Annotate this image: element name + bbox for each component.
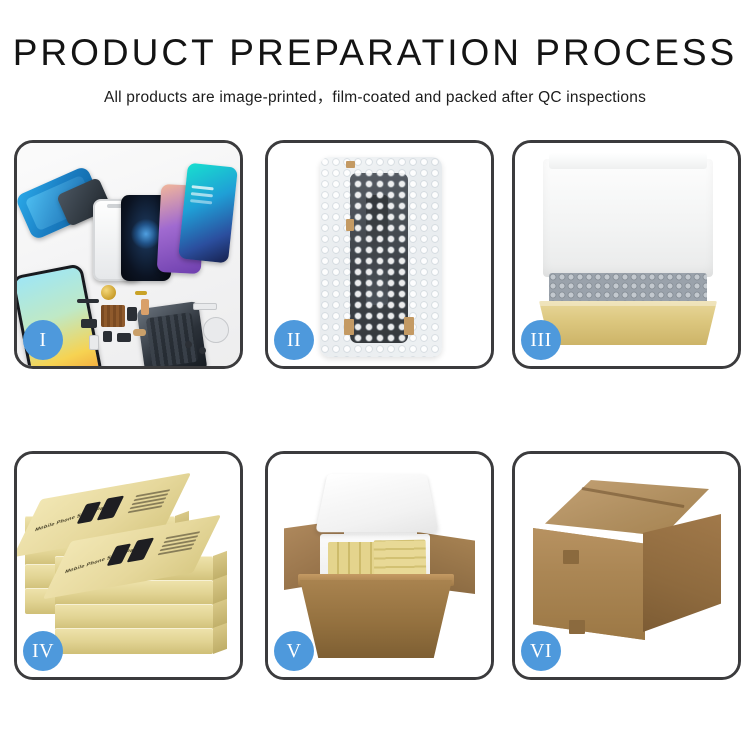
camera-module-part (81, 319, 97, 328)
process-step-grid: I II III (14, 140, 736, 740)
bubble-texture (320, 157, 442, 357)
label-spec-lines (136, 489, 171, 497)
foam-case-open-lid (315, 474, 438, 532)
gold-contact-part (135, 291, 147, 295)
carton-side-face (643, 514, 721, 632)
screwdriver-tool (193, 303, 217, 310)
step-badge-5: V (274, 631, 314, 671)
tape-piece (404, 317, 414, 335)
tape-piece (346, 219, 354, 231)
white-foam-lid (543, 159, 713, 277)
vibrator-part (117, 333, 131, 342)
step-card-2[interactable]: II (265, 140, 494, 369)
step-badge-6: VI (521, 631, 561, 671)
carton-body (300, 580, 452, 658)
page-title: PRODUCT PREPARATION PROCESS (0, 34, 750, 73)
circuit-board-part (101, 305, 125, 327)
retail-box (55, 604, 213, 630)
speaker-coil-part (101, 285, 116, 300)
label-spec-lines (166, 531, 201, 539)
retail-box (55, 628, 213, 654)
step-badge-3: III (521, 320, 561, 360)
carton-flap-tab (563, 550, 579, 564)
step-badge-2: II (274, 320, 314, 360)
poster-header: PRODUCT PREPARATION PROCESS All products… (0, 34, 750, 107)
screw-part (185, 341, 192, 348)
tape-piece (344, 319, 354, 335)
copper-flex-part (141, 299, 149, 315)
step-badge-1: I (23, 320, 63, 360)
step-card-1[interactable]: I (14, 140, 243, 369)
connector-part (133, 329, 146, 336)
step-card-4[interactable]: Mobile Phone Spare Parts Mobile Phone Sp… (14, 451, 243, 680)
step-badge-4: IV (23, 631, 63, 671)
tape-piece (346, 161, 355, 168)
step-card-3[interactable]: III (512, 140, 741, 369)
yellow-box-tray (539, 301, 717, 345)
screw-part (199, 347, 206, 354)
poster-sheet: PRODUCT PREPARATION PROCESS All products… (0, 0, 750, 750)
bubble-wrap-bag (320, 157, 442, 357)
carton-front-face (533, 528, 645, 640)
box-side (213, 623, 227, 654)
carton-flap-tab (569, 620, 585, 634)
button-part (103, 331, 112, 342)
step-card-6[interactable]: VI (512, 451, 741, 680)
teal-phone-image (178, 163, 238, 264)
glove-hand-image (203, 317, 229, 343)
sim-tray-part (89, 335, 99, 350)
step-card-5[interactable]: V (265, 451, 494, 680)
ic-chip-part (127, 307, 137, 321)
flex-strip-part (77, 299, 99, 303)
page-subtitle: All products are image-printed，film-coat… (0, 85, 750, 107)
